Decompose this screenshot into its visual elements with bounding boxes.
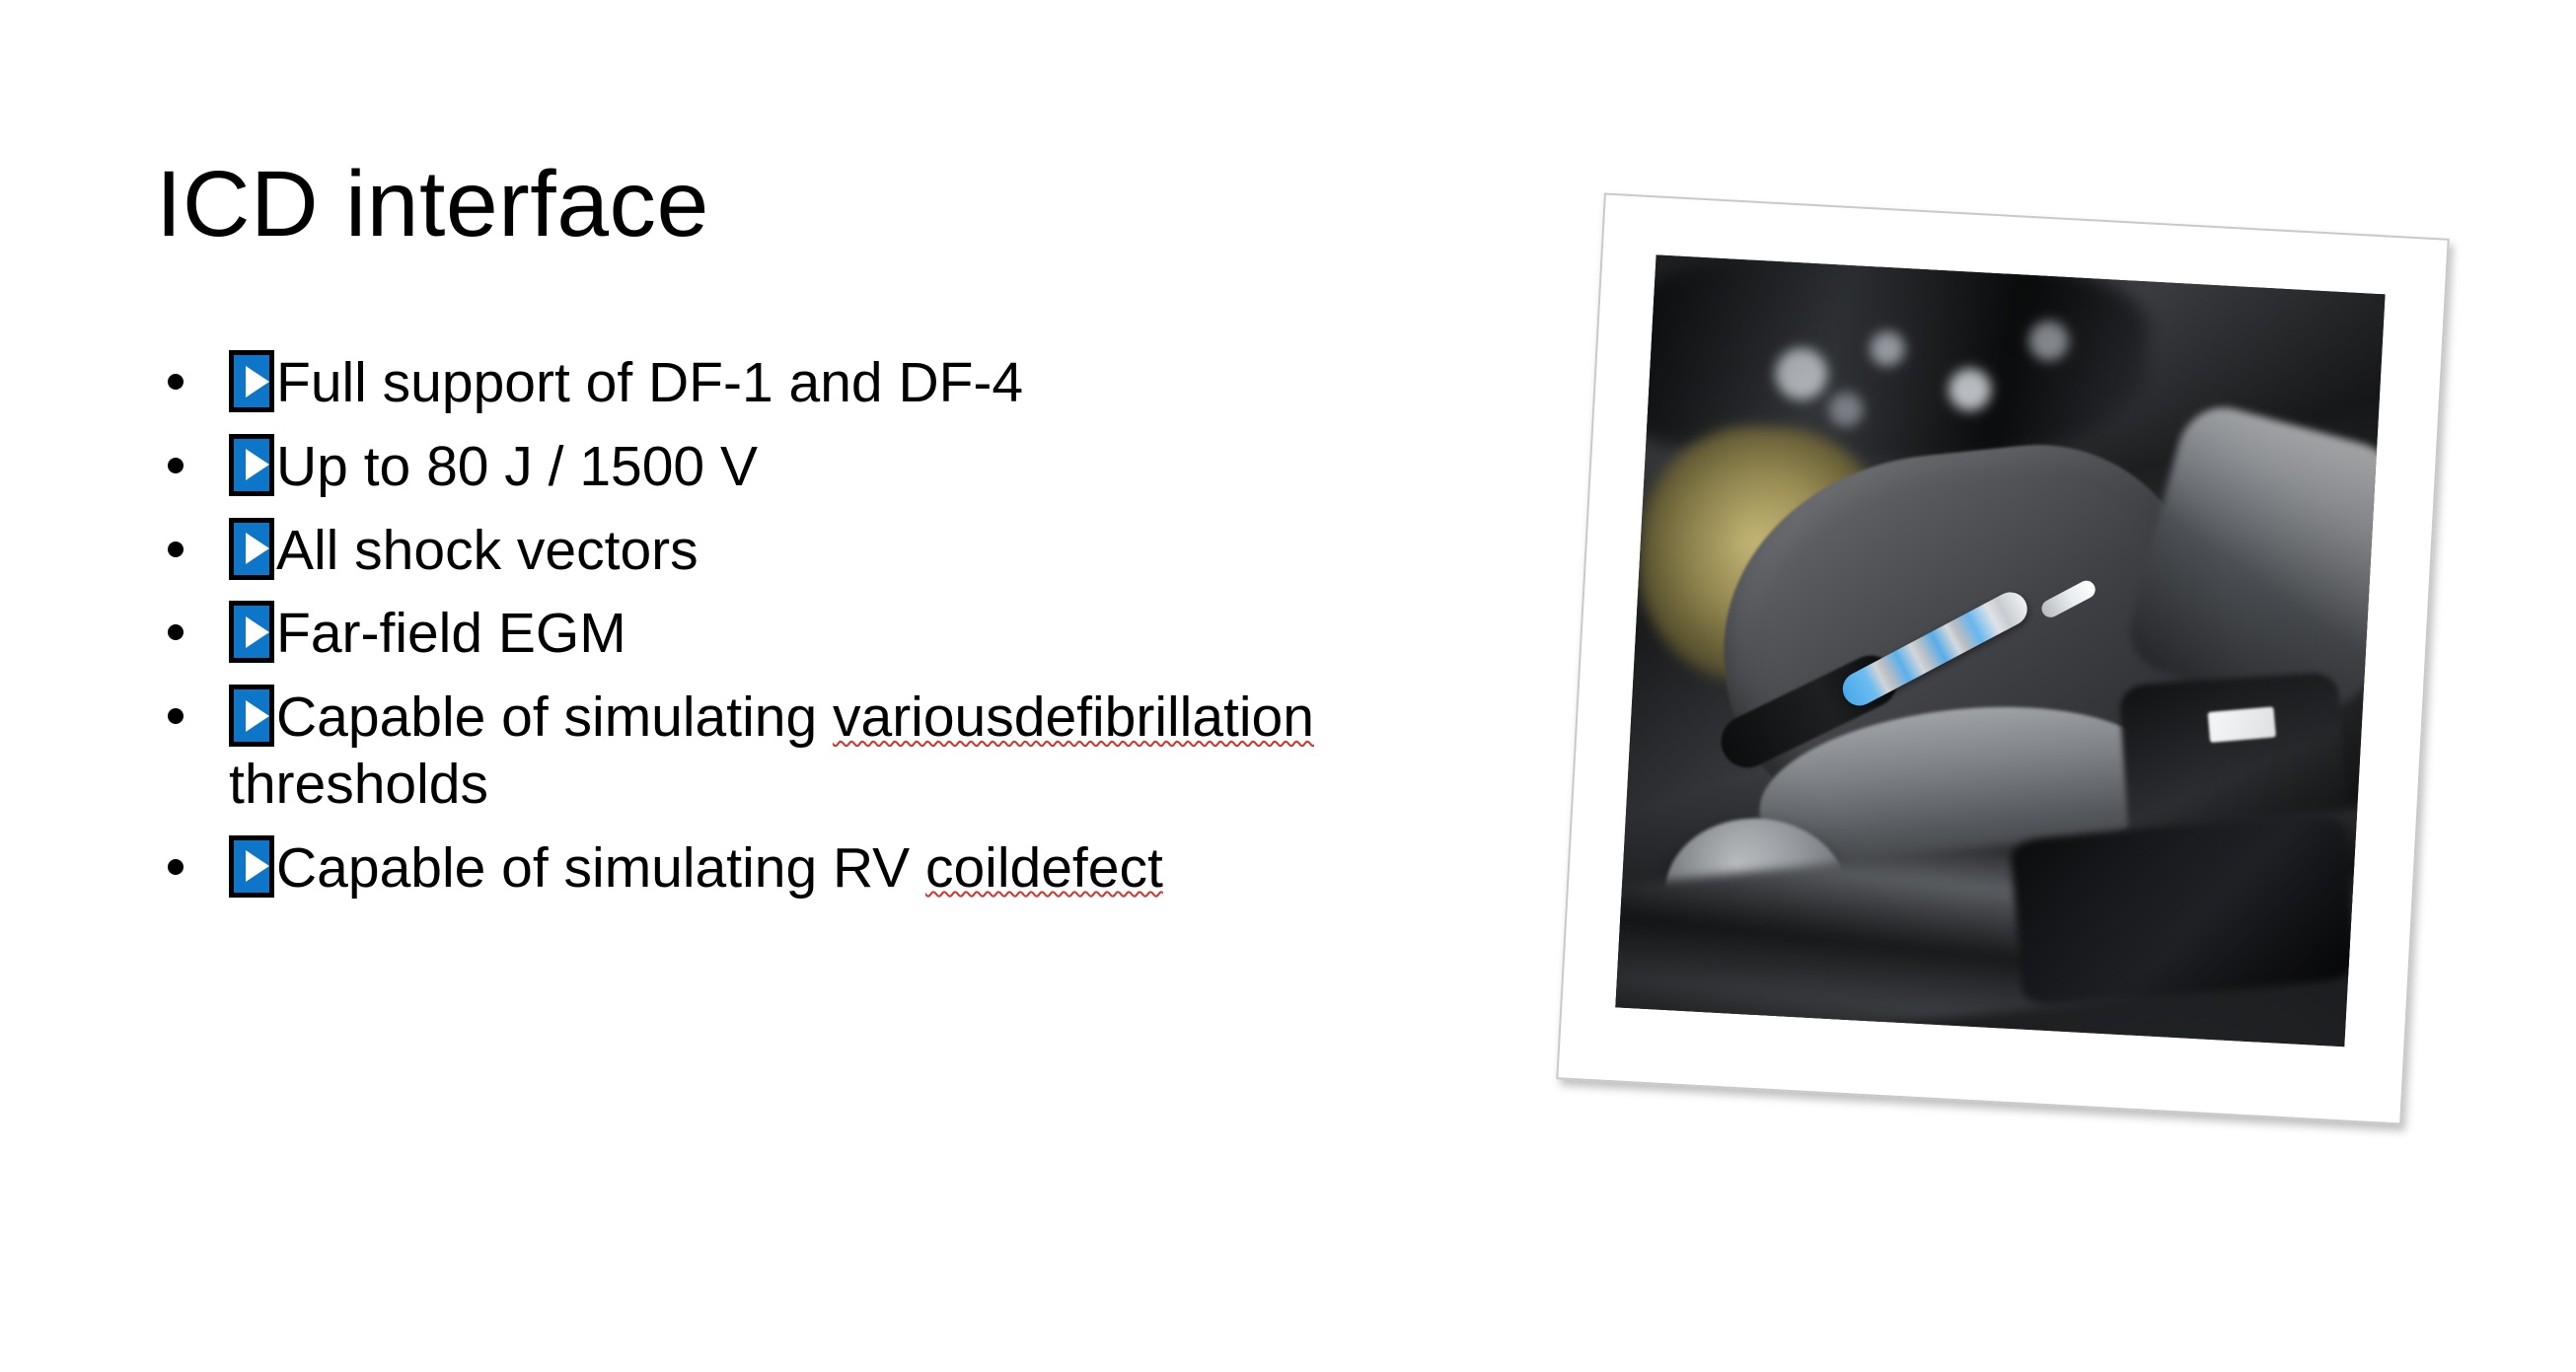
- list-item: Far-field EGM: [158, 601, 1480, 668]
- bullet-dot-icon: [168, 708, 184, 724]
- bullet-dot-icon: [168, 374, 184, 390]
- bullet-dot-icon: [168, 859, 184, 875]
- misspelled-word: variousdefibrillation: [833, 686, 1314, 749]
- list-item-label: All shock vectors: [276, 519, 699, 582]
- play-icon[interactable]: [229, 685, 274, 747]
- bullet-dot-icon: [168, 542, 184, 557]
- list-item-label: Up to 80 J / 1500 V: [276, 435, 758, 498]
- list-item-label-before: Capable of simulating RV: [276, 836, 925, 900]
- photo-vignette: [1615, 254, 2385, 1047]
- play-icon[interactable]: [229, 601, 274, 663]
- play-icon[interactable]: [229, 518, 274, 580]
- list-item: Full support of DF-1 and DF-4: [158, 350, 1480, 417]
- list-item: Capable of simulating RV coildefect: [158, 835, 1480, 903]
- list-item: All shock vectors: [158, 518, 1480, 585]
- list-item-label-before: Capable of simulating: [276, 686, 833, 749]
- bullet-dot-icon: [168, 624, 184, 640]
- list-item-label-after: thresholds: [229, 753, 488, 816]
- misspelled-word: coildefect: [925, 836, 1163, 900]
- list-item-content: Capable of simulating variousdefibrillat…: [229, 685, 1480, 819]
- list-item-content: Capable of simulating RV coildefect: [229, 835, 1480, 903]
- icd-device-with-lead-photo: [1615, 254, 2385, 1047]
- slide: ICD interface Full support of DF-1 and D…: [0, 0, 2576, 1372]
- list-item-content: Full support of DF-1 and DF-4: [229, 350, 1480, 417]
- list-item-label: Full support of DF-1 and DF-4: [276, 351, 1023, 414]
- play-icon[interactable]: [229, 350, 274, 412]
- bullet-dot-icon: [168, 458, 184, 473]
- list-item: Up to 80 J / 1500 V: [158, 434, 1480, 501]
- list-item-content: All shock vectors: [229, 518, 1480, 585]
- bullet-list: Full support of DF-1 and DF-4 Up to 80 J…: [158, 350, 1480, 919]
- list-item-content: Far-field EGM: [229, 601, 1480, 668]
- play-icon[interactable]: [229, 835, 274, 898]
- play-icon[interactable]: [229, 434, 274, 496]
- page-title: ICD interface: [156, 154, 709, 255]
- photo-frame[interactable]: [1556, 192, 2449, 1124]
- list-item-content: Up to 80 J / 1500 V: [229, 434, 1480, 501]
- list-item-label: Far-field EGM: [276, 602, 626, 665]
- list-item: Capable of simulating variousdefibrillat…: [158, 685, 1480, 819]
